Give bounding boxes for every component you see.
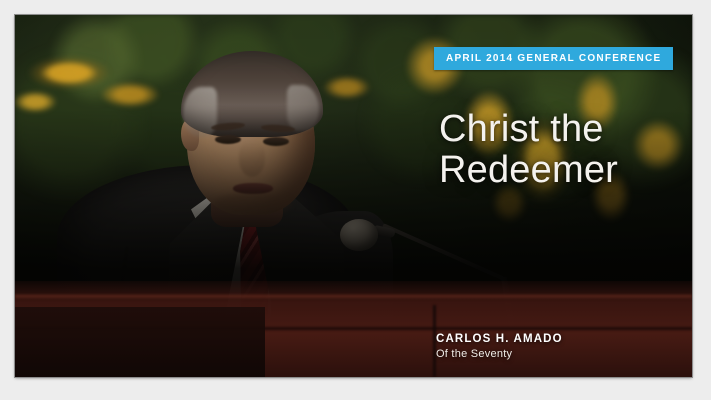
podium-front-panel	[15, 307, 265, 377]
podium	[15, 281, 692, 377]
speaker-role: Of the Seventy	[436, 348, 563, 360]
video-player[interactable]: APRIL 2014 GENERAL CONFERENCE Christ the…	[15, 15, 692, 377]
video-title-line-2: Redeemer	[439, 150, 689, 191]
conference-badge: APRIL 2014 GENERAL CONFERENCE	[434, 47, 673, 70]
podium-top-edge	[15, 295, 692, 299]
conference-badge-label: APRIL 2014 GENERAL CONFERENCE	[446, 53, 661, 64]
speaker-name: CARLOS H. AMADO	[436, 333, 563, 345]
video-title-line-1: Christ the	[439, 109, 689, 150]
video-title: Christ the Redeemer	[439, 109, 689, 190]
speaker-caption: CARLOS H. AMADO Of the Seventy	[436, 333, 563, 360]
page-root: APRIL 2014 GENERAL CONFERENCE Christ the…	[0, 0, 711, 400]
